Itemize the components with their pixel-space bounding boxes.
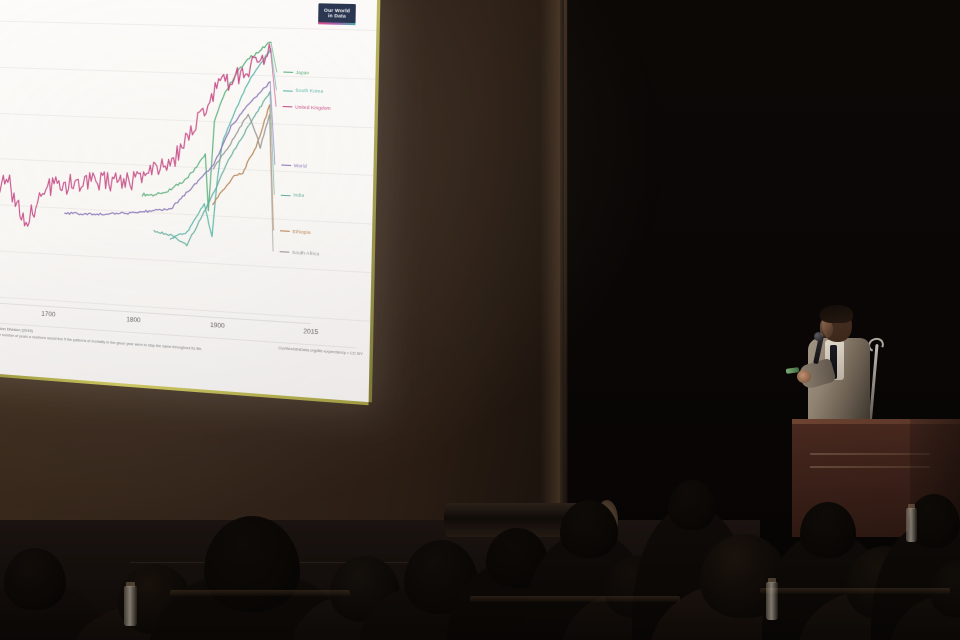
x-axis-tick: 2015 [303, 328, 318, 336]
legend-item-world[interactable]: World [281, 162, 307, 168]
legend-item-japan[interactable]: Japan [283, 69, 309, 75]
audience-desk [470, 596, 680, 602]
legend-label: United Kingdom [295, 104, 331, 111]
legend-swatch [283, 106, 293, 107]
audience-member-head [800, 502, 856, 558]
series-line-united-kingdom [0, 36, 271, 239]
legend-label: India [293, 193, 304, 199]
legend-label: South Africa [292, 249, 319, 256]
audience-member-head [668, 480, 716, 530]
presentation-photo: Our World in Data JapanSouth KoreaUnited… [0, 0, 960, 640]
projection-screen: Our World in Data JapanSouth KoreaUnited… [0, 0, 395, 423]
legend-swatch [280, 230, 290, 232]
water-bottle [906, 508, 917, 542]
audience-member-head [4, 548, 66, 610]
legend-label: Ethiopia [292, 228, 310, 234]
legend-item-south-africa[interactable]: South Africa [280, 249, 320, 256]
series-line-world [65, 75, 270, 224]
legend-swatch [281, 165, 291, 166]
water-bottle [124, 586, 137, 626]
legend-item-united-kingdom[interactable]: United Kingdom [283, 104, 331, 111]
water-bottle-cap [126, 582, 135, 587]
series-line-south-korea [170, 46, 271, 244]
legend-swatch [283, 72, 293, 73]
audience-desk [760, 588, 950, 594]
wall-seam [564, 0, 567, 520]
series-line-japan [142, 39, 271, 214]
x-axis-tick: 1700 [41, 311, 55, 319]
owid-life-expectancy-chart: Our World in Data JapanSouth KoreaUnited… [0, 0, 377, 402]
logo-color-bar [318, 22, 355, 25]
series-line-south-africa [213, 113, 269, 172]
water-bottle-cap [908, 504, 915, 509]
series-line-ethiopia [213, 103, 270, 207]
legend-item-ethiopia[interactable]: Ethiopia [280, 228, 311, 235]
water-bottle [766, 582, 778, 620]
legend-item-india[interactable]: India [281, 192, 304, 198]
logo-line-2: in Data [328, 14, 346, 19]
plot-area: JapanSouth KoreaUnited KingdomWorldIndia… [0, 20, 376, 332]
legend-label: South Korea [295, 88, 323, 94]
presenter-hand [797, 370, 811, 383]
audience-desk [170, 590, 350, 596]
x-axis-tick: 1800 [126, 316, 140, 324]
legend-swatch [283, 90, 293, 91]
presenter-hair [820, 305, 853, 323]
x-axis-tick: 1900 [210, 322, 225, 330]
audience-member-head [560, 500, 618, 558]
chart-legend: JapanSouth KoreaUnited KingdomWorldIndia… [272, 27, 372, 332]
legend-item-south-korea[interactable]: South Korea [283, 87, 323, 94]
legend-swatch [280, 251, 290, 253]
presenter [798, 306, 908, 424]
legend-label: Japan [296, 70, 310, 76]
our-world-in-data-logo: Our World in Data [318, 3, 356, 25]
legend-label: World [294, 163, 307, 169]
legend-swatch [281, 194, 291, 196]
water-bottle-cap [768, 578, 776, 583]
